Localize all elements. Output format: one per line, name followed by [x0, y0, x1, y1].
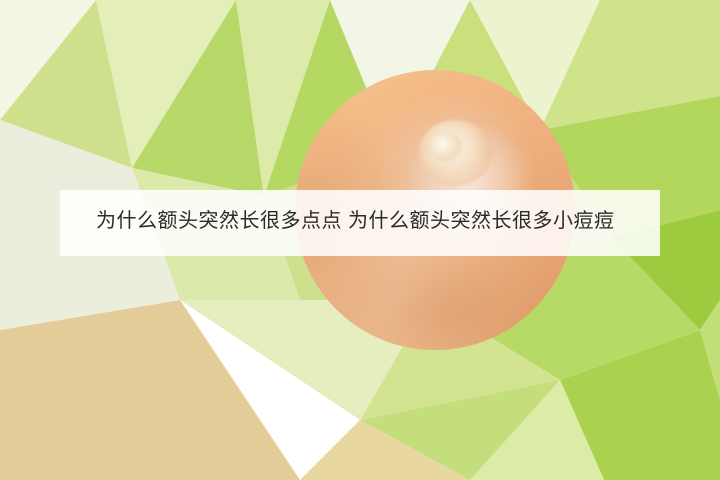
caption-banner: 为什么额头突然长很多点点 为什么额头突然长很多小痘痘 — [60, 190, 660, 256]
caption-text: 为什么额头突然长很多点点 为什么额头突然长很多小痘痘 — [96, 204, 624, 238]
skin-shadow-bottom — [323, 244, 575, 350]
image-canvas: 为什么额头突然长很多点点 为什么额头突然长很多小痘痘 — [0, 0, 720, 480]
skin-blemish-highlight — [429, 132, 463, 162]
